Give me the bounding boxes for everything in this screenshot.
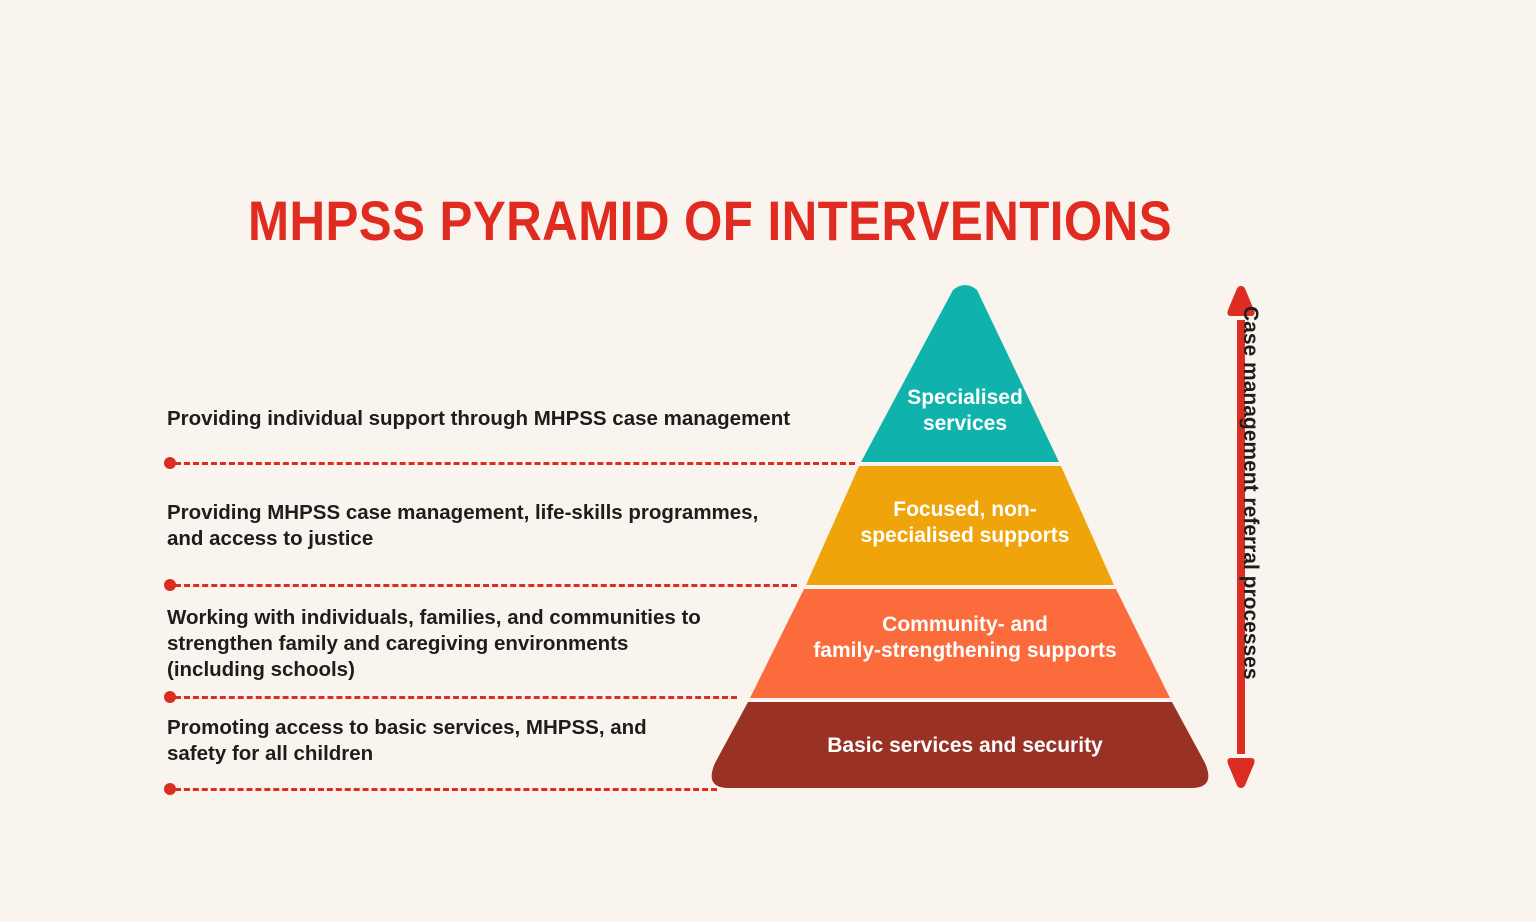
pyramid-tier-specialised[interactable] — [861, 285, 1059, 462]
pyramid-tier-focused[interactable] — [806, 466, 1114, 585]
description-text-basic: Promoting access to basic services, MHPS… — [167, 715, 727, 767]
pyramid-diagram: Specialised services Focused, non- speci… — [700, 278, 1230, 798]
referral-process-label: Case management referral processes — [1238, 306, 1262, 776]
connector-dash-icon — [175, 788, 717, 791]
connector-dash-icon — [175, 696, 737, 699]
infographic-canvas: MHPSS PYRAMID OF INTERVENTIONS Providing… — [0, 0, 1536, 922]
pyramid-tier-basic[interactable] — [712, 702, 1209, 788]
page-title: MHPSS PYRAMID OF INTERVENTIONS — [85, 188, 1335, 253]
pyramid-tier-community[interactable] — [750, 589, 1170, 698]
description-text-community: Working with individuals, families, and … — [167, 605, 767, 683]
pyramid-svg — [700, 278, 1230, 798]
